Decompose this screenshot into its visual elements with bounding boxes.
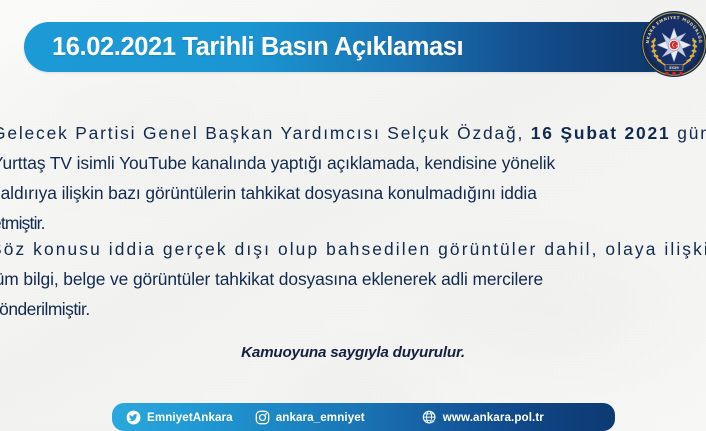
page-title: 16.02.2021 Tarihli Basın Açıklaması xyxy=(52,22,463,72)
paragraph-line: gönderilmiştir. xyxy=(0,294,706,324)
footer-instagram-label: ankara_emniyet xyxy=(276,411,365,424)
footer-band: EmniyetAnkara ankara_emniyet xyxy=(112,403,615,431)
footer-website-link[interactable]: www.ankara.pol.tr xyxy=(422,410,544,425)
body-text: saldırıya ilişkin bazı görüntülerin tahk… xyxy=(0,183,537,203)
footer-website-label: www.ankara.pol.tr xyxy=(443,411,544,424)
footer-instagram-handle[interactable]: ankara_emniyet xyxy=(255,410,365,425)
paragraph-line: Yurttaş TV isimli YouTube kanalında yapt… xyxy=(0,148,706,178)
ankara-emniyet-mudurlugu-seal-icon: ANKARA EMNİYET MÜDÜRLÜĞÜ xyxy=(639,4,706,82)
footer-twitter-handle[interactable]: EmniyetAnkara xyxy=(126,410,233,425)
svg-text:EGM: EGM xyxy=(669,65,679,70)
paragraph-line: tüm bilgi, belge ve görüntüler tahkikat … xyxy=(0,264,706,294)
body-text: gönderilmiştir. xyxy=(0,299,90,319)
paragraph-line: Söz konusu iddia gerçek dışı olup bahsed… xyxy=(0,234,706,264)
press-release-paragraph-1: Gelecek Partisi Genel Başkan Yardımcısı … xyxy=(0,118,706,238)
twitter-bird-icon xyxy=(126,410,141,425)
body-text: etmiştir. xyxy=(0,213,45,233)
body-text: günü xyxy=(671,123,706,143)
body-text: Söz konusu iddia gerçek dışı olup bahsed… xyxy=(0,239,706,259)
instagram-camera-icon xyxy=(255,410,270,425)
press-release-paragraph-2: Söz konusu iddia gerçek dışı olup bahsed… xyxy=(0,234,706,324)
body-text: tüm bilgi, belge ve görüntüler tahkikat … xyxy=(0,269,543,289)
body-text: Gelecek Partisi Genel Başkan Yardımcısı … xyxy=(0,123,531,143)
emphasis-text: 16 Şubat 2021 xyxy=(531,123,671,143)
press-release-image: 16.02.2021 Tarihli Basın Açıklaması ANKA… xyxy=(0,0,706,431)
paragraph-line: Gelecek Partisi Genel Başkan Yardımcısı … xyxy=(0,118,706,148)
body-text: Yurttaş TV isimli YouTube kanalında yapt… xyxy=(0,153,555,173)
paragraph-line: saldırıya ilişkin bazı görüntülerin tahk… xyxy=(0,178,706,208)
globe-icon xyxy=(422,410,437,425)
closing-line: Kamuoyuna saygıyla duyurulur. xyxy=(0,344,706,361)
footer-twitter-label: EmniyetAnkara xyxy=(147,411,233,424)
